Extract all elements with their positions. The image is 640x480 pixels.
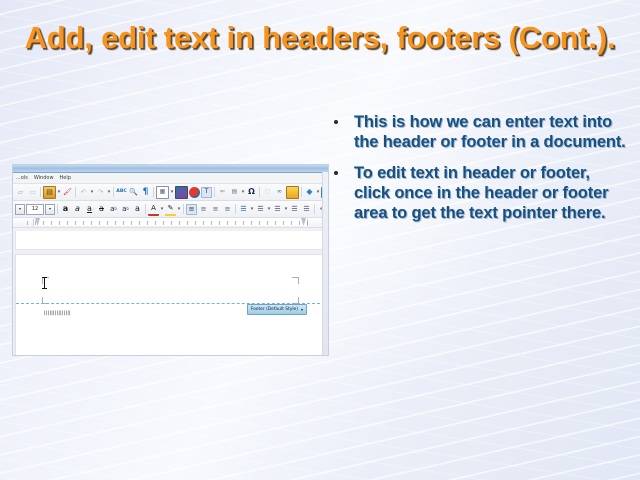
toolbar-separator [57, 204, 58, 214]
font-color-icon[interactable]: A [148, 203, 159, 216]
superscript-icon[interactable]: ab [108, 204, 119, 215]
chevron-down-icon[interactable]: ▾ [267, 204, 271, 215]
document-page[interactable]: Footer (Default Style) ▾ ||||||||||||||| [15, 254, 326, 355]
insert-image-icon[interactable] [175, 186, 188, 199]
shapes-icon[interactable]: ◆ [304, 187, 315, 198]
slide-title: Add, edit text in headers, footers (Cont… [22, 18, 618, 57]
text-cursor [44, 277, 45, 289]
ruler-ticks [27, 221, 314, 225]
chevron-down-icon[interactable]: ▾ [90, 187, 94, 198]
chevron-down-icon[interactable]: ▾ [250, 204, 254, 215]
insert-chart-icon[interactable] [189, 187, 200, 198]
increase-indent-icon[interactable]: ☰ [301, 204, 312, 215]
list-item: To edit text in header or footer, click … [327, 163, 627, 223]
chevron-down-icon[interactable]: ▾ [316, 187, 320, 198]
vertical-scrollbar[interactable] [322, 172, 328, 355]
toolbar-separator [259, 187, 260, 197]
page-break-icon[interactable]: ▤ [229, 187, 240, 198]
formatting-toolbar[interactable]: ▾ 12 ▾ a a a a ab ab a A ▾ ✎ ▾ ≡ ≡ ≡ ≡ ☰… [13, 201, 328, 218]
align-left-icon[interactable]: ≡ [186, 204, 197, 215]
special-character-icon[interactable]: Ω [246, 187, 257, 198]
font-name-dropdown[interactable]: ▾ [15, 204, 25, 215]
menu-item-help[interactable]: Help [60, 173, 71, 183]
chevron-down-icon[interactable]: ▾ [160, 204, 164, 215]
spelling-check-icon[interactable]: ABC [116, 187, 127, 198]
page-top-strip [15, 231, 326, 250]
insert-table-icon[interactable]: ▦ [156, 186, 169, 199]
toolbar-separator [75, 187, 76, 197]
clear-formatting-icon[interactable]: a [132, 204, 143, 215]
menu-item-window[interactable]: Window [34, 173, 54, 183]
formatting-marks-icon[interactable]: ¶ [140, 187, 151, 198]
chevron-down-icon[interactable]: ▾ [170, 187, 174, 198]
highlight-color-icon[interactable]: ✎ [165, 203, 176, 216]
menu-item-tools[interactable]: ...ols [16, 173, 28, 183]
list-item: This is how we can enter text into the h… [327, 112, 627, 152]
italic-icon[interactable]: a [72, 204, 83, 215]
align-right-icon[interactable]: ≡ [210, 204, 221, 215]
insert-footnote-icon[interactable]: ⇐ [217, 187, 228, 198]
ordered-list-icon[interactable]: ☰ [238, 204, 249, 215]
chevron-down-icon[interactable]: ▾ [57, 187, 61, 198]
insert-field-icon[interactable]: ▢ [262, 187, 273, 198]
toolbar-separator [153, 187, 154, 197]
redo-icon[interactable]: ↷ [95, 187, 106, 198]
chevron-down-icon[interactable]: ▾ [241, 187, 245, 198]
menu-bar[interactable]: ...ols Window Help [13, 173, 328, 184]
text-box-icon[interactable]: T [201, 187, 212, 198]
document-body-text: ||||||||||||||| [44, 310, 71, 316]
toolbar-separator [235, 204, 236, 214]
align-center-icon[interactable]: ≡ [198, 204, 209, 215]
toolbar-separator [145, 204, 146, 214]
outline-list-icon[interactable]: ☰ [272, 204, 283, 215]
subscript-icon[interactable]: ab [120, 204, 131, 215]
standard-toolbar[interactable]: ▱ ▭ ▤ ▾ 🖌 ↶ ▾ ↷ ▾ ABC 🔍 ¶ ▦ ▾ T ⇐ ▤ ▾ Ω [13, 184, 328, 201]
horizontal-ruler[interactable] [13, 218, 328, 228]
footer-style-label: Footer (Default Style) [251, 305, 298, 314]
toolbar-separator [314, 204, 315, 214]
bullet-list: This is how we can enter text into the h… [327, 112, 627, 234]
toolbar-separator [40, 187, 41, 197]
footer-style-button[interactable]: Footer (Default Style) ▾ [247, 304, 307, 315]
window-titlebar [13, 165, 328, 173]
find-replace-icon[interactable]: 🔍 [128, 187, 139, 198]
font-size-dropdown[interactable]: ▾ [45, 204, 55, 215]
slide: Add, edit text in headers, footers (Cont… [0, 0, 640, 480]
chevron-down-icon[interactable]: ▾ [301, 305, 303, 314]
embedded-screenshot: ...ols Window Help ▱ ▭ ▤ ▾ 🖌 ↶ ▾ ↷ ▾ ABC… [13, 165, 328, 355]
open-document-icon[interactable]: ▭ [27, 187, 38, 198]
hyperlink-icon[interactable]: ∞ [274, 187, 285, 198]
undo-icon[interactable]: ↶ [78, 187, 89, 198]
toolbar-separator [301, 187, 302, 197]
toolbar-separator [113, 187, 114, 197]
document-work-area: Footer (Default Style) ▾ ||||||||||||||| [13, 228, 328, 355]
chevron-down-icon[interactable]: ▾ [177, 204, 181, 215]
decrease-indent-icon[interactable]: ☰ [289, 204, 300, 215]
font-size-input[interactable]: 12 [26, 204, 44, 215]
toolbar-separator [214, 187, 215, 197]
underline-icon[interactable]: a [84, 204, 95, 215]
align-justify-icon[interactable]: ≡ [222, 204, 233, 215]
clone-formatting-icon[interactable]: 🖌 [62, 187, 73, 198]
chevron-down-icon[interactable]: ▾ [107, 187, 111, 198]
bookmark-icon[interactable] [286, 186, 299, 199]
bold-icon[interactable]: a [60, 204, 71, 215]
paste-icon[interactable]: ▤ [43, 186, 56, 199]
unordered-list-icon[interactable]: ☰ [255, 204, 266, 215]
strikethrough-icon[interactable]: a [96, 204, 107, 215]
toolbar-separator [183, 204, 184, 214]
new-document-icon[interactable]: ▱ [15, 187, 26, 198]
text-boundary-corner [292, 277, 299, 284]
chevron-down-icon[interactable]: ▾ [284, 204, 288, 215]
